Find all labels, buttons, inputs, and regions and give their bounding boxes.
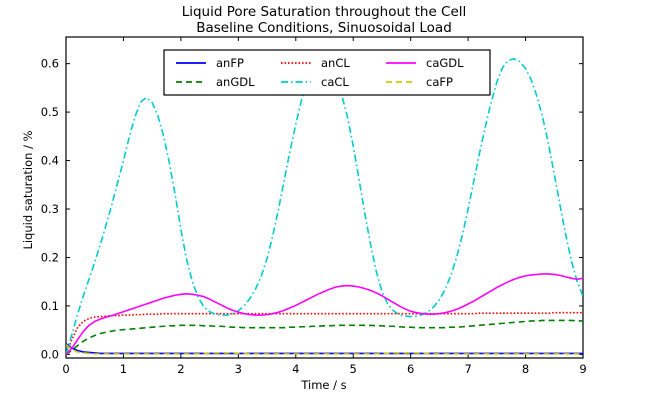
y-tick-label: 0.4: [41, 154, 59, 168]
chart-title-line-1: Liquid Pore Saturation throughout the Ce…: [0, 4, 648, 20]
x-tick-label: 8: [522, 362, 529, 376]
x-tick-label: 7: [464, 362, 471, 376]
x-tick-label: 4: [292, 362, 299, 376]
y-axis-label: Liquid saturation / %: [21, 70, 35, 310]
y-tick-label: 0.6: [41, 57, 59, 71]
x-tick-label: 6: [407, 362, 414, 376]
legend: anFPanCLcaGDLanGDLcaCLcaFP: [164, 50, 490, 95]
x-tick-label: 1: [120, 362, 127, 376]
legend-label-caCL: caCL: [321, 75, 349, 89]
legend-label-caFP: caFP: [426, 75, 453, 89]
y-tick-label: 0.0: [41, 347, 59, 361]
x-tick-label: 2: [177, 362, 184, 376]
y-tick-label: 0.2: [41, 250, 59, 264]
chart-title-line-2: Baseline Conditions, Sinuosoidal Load: [0, 20, 648, 36]
chart-title: Liquid Pore Saturation throughout the Ce…: [0, 4, 648, 36]
y-tick-label: 0.3: [41, 202, 59, 216]
plot-area: 01234567890.00.10.20.30.40.50.6anFPanCLc…: [0, 0, 648, 400]
x-axis-label: Time / s: [0, 378, 648, 392]
figure-canvas: Liquid Pore Saturation throughout the Ce…: [0, 0, 648, 400]
x-tick-label: 3: [235, 362, 242, 376]
legend-label-anFP: anFP: [216, 56, 244, 70]
legend-label-anGDL: anGDL: [216, 75, 255, 89]
x-tick-label: 5: [350, 362, 357, 376]
y-tick-label: 0.5: [41, 105, 59, 119]
x-tick-label: 0: [62, 362, 69, 376]
x-tick-label: 9: [579, 362, 586, 376]
legend-label-anCL: anCL: [321, 56, 350, 70]
y-tick-label: 0.1: [41, 299, 59, 313]
legend-label-caGDL: caGDL: [426, 56, 464, 70]
